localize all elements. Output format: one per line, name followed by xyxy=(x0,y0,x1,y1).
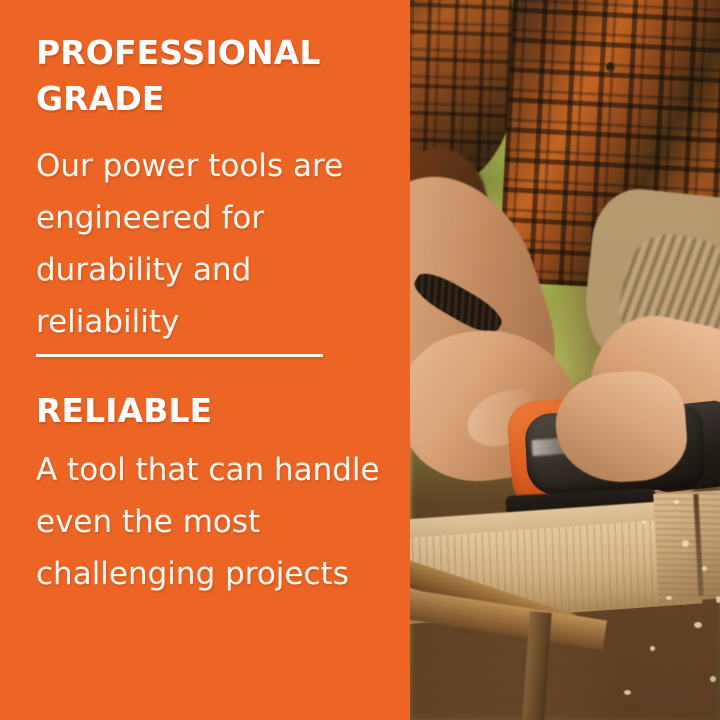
section-divider xyxy=(36,354,323,357)
copy-panel: PROFESSIONAL GRADE Our power tools are e… xyxy=(0,0,410,720)
body-copy-reliable: A tool that can handle even the most cha… xyxy=(36,444,384,600)
photo-vignette-overlay xyxy=(410,0,720,720)
body-copy-professional-grade: Our power tools are engineered for durab… xyxy=(36,140,384,348)
headline-reliable: RELIABLE xyxy=(36,388,380,434)
headline-professional-grade: PROFESSIONAL GRADE xyxy=(36,30,380,122)
marketing-banner: PROFESSIONAL GRADE Our power tools are e… xyxy=(0,0,720,720)
product-photo: Woodworker in an orange and black plaid … xyxy=(410,0,720,720)
